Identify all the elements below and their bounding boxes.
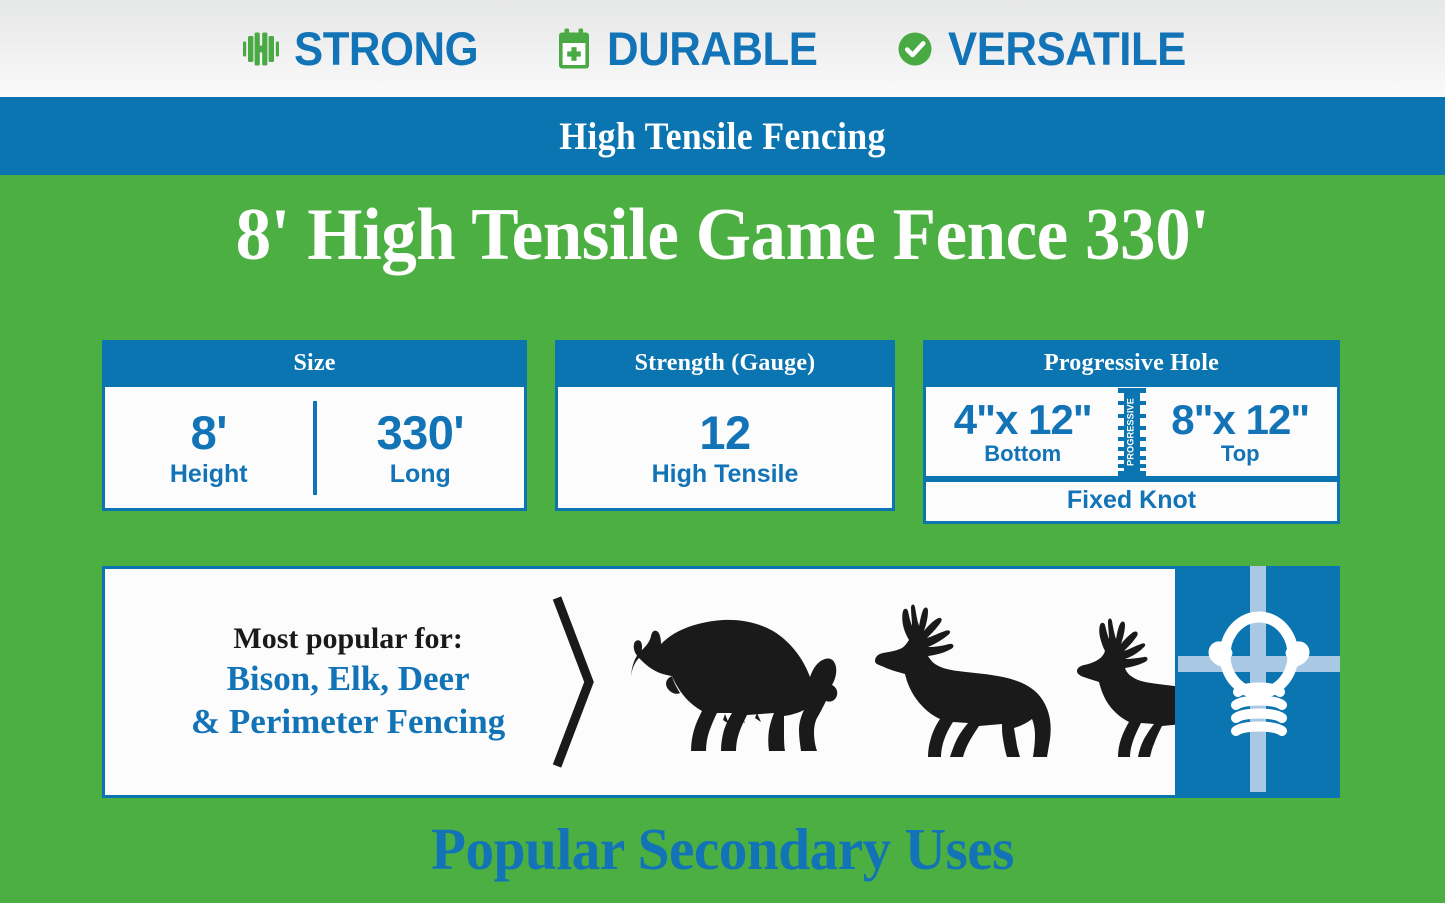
svg-text:PROGRESSIVE: PROGRESSIVE (1125, 398, 1135, 466)
card-progressive-hole: Progressive Hole 4"x 12" Bottom (923, 340, 1340, 524)
card-strength: Strength (Gauge) 12 High Tensile (555, 340, 895, 511)
sub-banner-text: High Tensile Fencing (559, 117, 886, 156)
fixed-knot-panel (1178, 566, 1340, 798)
card-strength-header: Strength (Gauge) (555, 340, 895, 387)
deer-silhouette (1077, 618, 1178, 757)
fixed-knot-icon (1178, 566, 1340, 792)
popular-heading: Most popular for: (191, 621, 505, 656)
hole-bottom-label: Bottom (932, 443, 1114, 465)
calendar-plus-icon (554, 27, 594, 71)
progressive-ruler-icon: PROGRESSIVE (1114, 386, 1150, 478)
card-strength-body: 12 High Tensile (555, 387, 895, 511)
card-hole-header: Progressive Hole (923, 340, 1340, 387)
page-title: 8' High Tensile Game Fence 330' (29, 196, 1416, 276)
animal-silhouettes (617, 587, 1178, 777)
footer-title: Popular Secondary Uses (22, 820, 1424, 879)
size-length-value: 330' (317, 409, 525, 456)
card-size: Size 8' Height 330' Long (102, 340, 527, 511)
card-size-body: 8' Height 330' Long (102, 387, 527, 511)
hole-top-dim: 8"x 12" (1150, 399, 1332, 441)
feature-strong-label: STRONG (294, 25, 478, 72)
hole-bottom-dim: 4"x 12" (932, 399, 1114, 441)
infographic-page: STRONG DURABLE VERSA (0, 0, 1445, 903)
size-height-value: 8' (105, 409, 313, 456)
feature-strong: STRONG (241, 25, 492, 72)
strength-label: High Tensile (652, 462, 799, 487)
elk-silhouette (875, 604, 1051, 757)
feature-versatile: VERSATILE (895, 25, 1204, 72)
popular-uses-content: Most popular for: Bison, Elk, Deer & Per… (102, 566, 1178, 798)
popular-uses-text: Most popular for: Bison, Elk, Deer & Per… (191, 621, 505, 744)
spec-cards-row: Size 8' Height 330' Long Strength (Gauge… (102, 340, 1340, 524)
size-height-label: Height (105, 462, 313, 487)
bison-silhouette (631, 620, 837, 751)
size-height-cell: 8' Height (105, 409, 313, 487)
card-size-header: Size (102, 340, 527, 387)
feature-bar: STRONG DURABLE VERSA (0, 0, 1445, 97)
card-hole-footer: Fixed Knot (923, 479, 1340, 524)
popular-list: Bison, Elk, Deer & Perimeter Fencing (191, 658, 505, 743)
feature-durable-label: DURABLE (607, 25, 817, 72)
feature-versatile-label: VERSATILE (948, 25, 1186, 72)
feature-durable: DURABLE (554, 25, 833, 72)
hole-top-cell: 8"x 12" Top (1150, 399, 1332, 465)
hole-top-label: Top (1150, 443, 1332, 465)
chevron-right-icon (549, 590, 597, 774)
card-hole-body: 4"x 12" Bottom PROGRESSIVE (923, 387, 1340, 479)
sub-banner: High Tensile Fencing (0, 97, 1445, 175)
hole-bottom-cell: 4"x 12" Bottom (932, 399, 1114, 465)
size-length-cell: 330' Long (317, 409, 525, 487)
popular-uses-panel: Most popular for: Bison, Elk, Deer & Per… (102, 566, 1340, 798)
dumbbell-icon (241, 27, 281, 71)
check-circle-icon (895, 27, 935, 71)
strength-value: 12 (699, 409, 750, 456)
size-length-label: Long (317, 462, 525, 487)
